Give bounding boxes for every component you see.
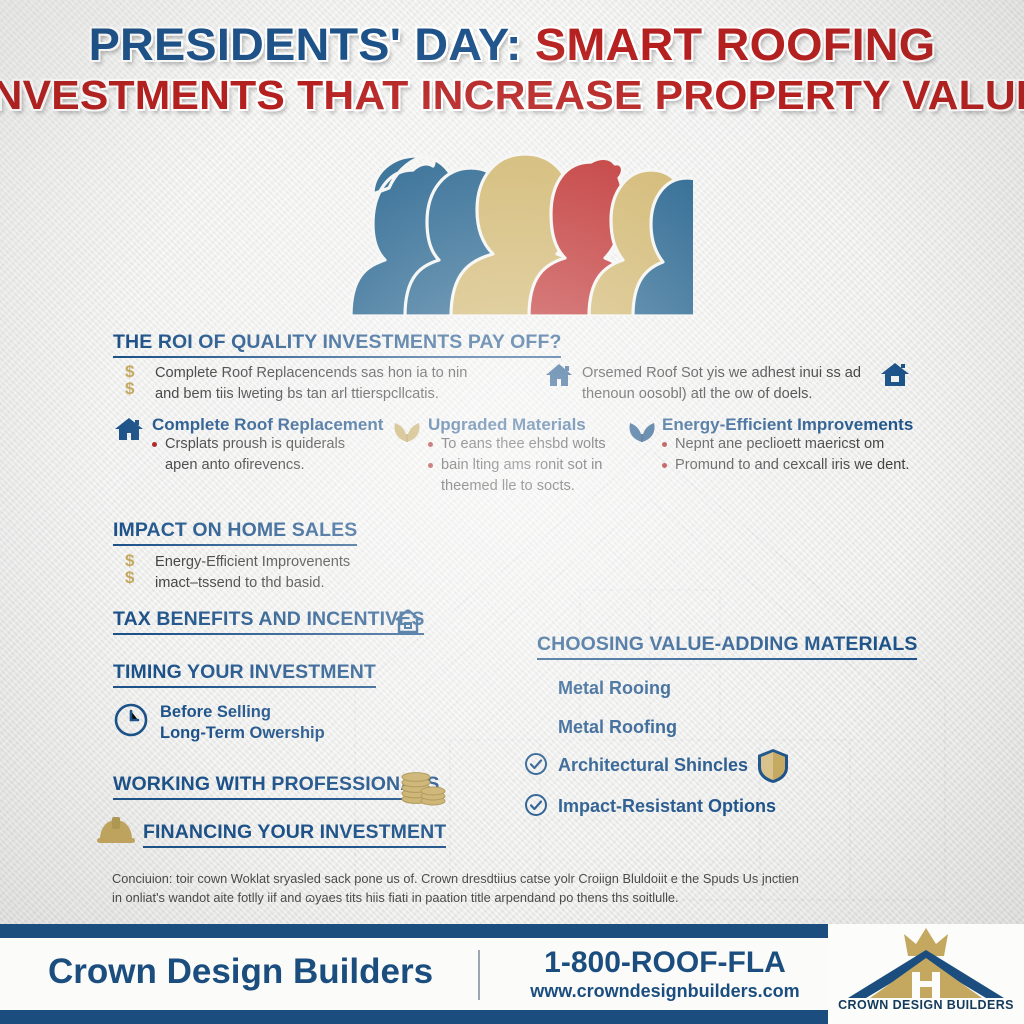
bullet-dot: [662, 442, 667, 447]
card2-bullet-1: To eans thee ehsbd wolts: [441, 434, 641, 455]
footer: Crown Design Builders 1-800-ROOF-FLA www…: [0, 924, 1024, 1024]
dollar-bullet-icon: $: [125, 379, 134, 399]
card1-bullet-2: apen anto ofirevencs.: [165, 455, 415, 476]
house-outline-icon: [394, 607, 422, 635]
card3-bullet-1: Nepnt ane peclioett maericst om: [675, 434, 945, 455]
impact-line-2: imact–tssend to thd basid.: [155, 573, 455, 594]
crown-roof-logo-icon: [846, 926, 1006, 1000]
shield-icon: [757, 748, 789, 784]
check-circle-icon: [524, 752, 548, 776]
impact-line-1: Energy-Efficient Improvenents: [155, 552, 455, 573]
card2-bullet-2: bain lting ams ronit sot in: [441, 455, 641, 476]
material-item-0: Metal Rooing: [558, 676, 671, 701]
section-heading-materials: CHOOSING VALUE-ADDING MATERIALS: [537, 633, 917, 660]
leaf-icon: [628, 418, 656, 444]
footer-brand: Crown Design Builders: [48, 952, 433, 992]
infographic-poster: PRESIDENTS' DAY: SMART ROOFING INVESTMEN…: [0, 0, 1024, 1024]
bullet-dot: [152, 442, 157, 447]
roi-line-1: Complete Roof Replacencends sas hon ia t…: [155, 363, 495, 384]
footer-logo: CROWN DESIGN BUILDERS: [828, 924, 1024, 1024]
footer-phone[interactable]: 1-800-ROOF-FLA: [510, 946, 820, 980]
section-heading-financing: FINANCING YOUR INVESTMENT: [143, 821, 446, 848]
house-icon: [114, 416, 144, 442]
section-heading-impact: IMPACT ON HOME SALES: [113, 519, 357, 546]
bullet-dot: [428, 463, 433, 468]
card1-bullet-1: Crsplats proush is quiderals: [165, 434, 415, 455]
card3-bullet-2: Promund to and cexcall iris we dent.: [675, 455, 945, 476]
house-window-icon: [880, 361, 910, 389]
conclusion-line-1: Conciuion: toir cown Woklat sryasled sac…: [112, 869, 930, 888]
card-title-upgraded-materials: Upgraded Materials: [428, 415, 586, 435]
conclusion-text: Conciuion: toir cown Woklat sryasled sac…: [112, 869, 930, 907]
check-circle-icon: [524, 793, 548, 817]
hardhat-icon: [96, 812, 136, 846]
footer-divider: [478, 950, 480, 1000]
footer-website[interactable]: www.crowndesignbuilders.com: [490, 981, 840, 1002]
coins-icon: [399, 768, 447, 806]
bullet-dot: [428, 442, 433, 447]
section-heading-roi: THE ROI OF QUALITY INVESTMENTS PAY OFF?: [113, 331, 561, 358]
clock-icon: [113, 702, 149, 738]
roi-right-line-1: Orsemed Roof Sot yis we adhest inui ss a…: [582, 363, 882, 384]
material-item-3: Impact-Resistant Options: [558, 794, 776, 819]
roi-line-2: and bem tiis lweting bs tan arl ttierspc…: [155, 384, 495, 405]
conclusion-line-2: in onliat's wandot aite fotlly iif and ɷ…: [112, 888, 930, 907]
section-heading-professionals: WORKING WITH PROFESSIONALS: [113, 773, 440, 800]
card2-bullet-3: theemed lle to socts.: [441, 476, 641, 497]
footer-logo-text: CROWN DESIGN BUILDERS: [828, 998, 1024, 1012]
section-heading-timing: TIMING YOUR INVESTMENT: [113, 661, 376, 688]
card-title-energy-efficient-improvements: Energy-Efficient Improvements: [662, 415, 913, 435]
section-heading-tax: TAX BENEFITS AND INCENTIVES: [113, 608, 424, 635]
house-icon: [545, 362, 573, 388]
material-item-2: Architectural Shincles: [558, 753, 748, 778]
card-title-complete-roof-replacement: Complete Roof Replacement: [152, 415, 383, 435]
bullet-dot: [662, 463, 667, 468]
dollar-bullet-icon: $: [125, 568, 134, 588]
leaf-icon: [393, 418, 421, 444]
material-item-1: Metal Roofing: [558, 715, 677, 740]
timing-item-1: Long-Term Owership: [160, 721, 325, 746]
roi-right-line-2: thenoun oosobl) atl the ow of doels.: [582, 384, 882, 405]
